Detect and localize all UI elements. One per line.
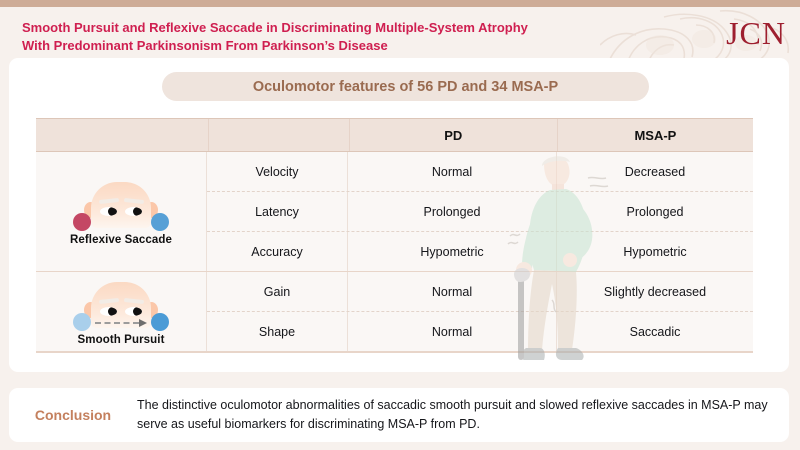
table-group-reflexive-saccade: Reflexive Saccade Velocity Normal Decrea… bbox=[36, 152, 753, 271]
smooth-pursuit-icon-cell: Smooth Pursuit bbox=[36, 272, 207, 351]
pd-value: Normal bbox=[347, 152, 556, 191]
page-title-line2: With Predominant Parkinsonism From Parki… bbox=[22, 37, 622, 55]
pd-value: Hypometric bbox=[347, 232, 556, 271]
top-accent-strip bbox=[0, 0, 800, 7]
section-banner-label: Oculomotor features of 56 PD and 34 MSA-… bbox=[253, 79, 558, 95]
conclusion-card: Conclusion The distinctive oculomotor ab… bbox=[9, 388, 789, 442]
smooth-pursuit-label: Smooth Pursuit bbox=[77, 334, 164, 346]
eyes-smooth-pursuit-icon bbox=[73, 282, 169, 328]
feature-name: Velocity bbox=[207, 152, 347, 191]
pupil-left-icon bbox=[108, 307, 117, 316]
jcn-logo: JCN bbox=[726, 17, 786, 49]
msa-p-value: Hypometric bbox=[556, 232, 753, 271]
table-row: Shape Normal Saccadic bbox=[207, 311, 753, 351]
eye-left-icon bbox=[100, 307, 117, 316]
pd-value: Normal bbox=[347, 272, 556, 311]
eyes-reflexive-saccade-icon bbox=[73, 182, 169, 228]
table-body: Reflexive Saccade Velocity Normal Decrea… bbox=[36, 152, 753, 351]
main-card: Oculomotor features of 56 PD and 34 MSA-… bbox=[9, 58, 789, 372]
oculomotor-features-table: PD MSA-P Reflexiv bbox=[36, 118, 753, 353]
msa-p-value: Saccadic bbox=[556, 312, 753, 351]
section-banner: Oculomotor features of 56 PD and 34 MSA-… bbox=[162, 72, 649, 101]
feature-name: Latency bbox=[207, 192, 347, 231]
target-dot-right bbox=[151, 213, 169, 231]
pupil-right-icon bbox=[133, 307, 142, 316]
eye-left-icon bbox=[100, 207, 117, 216]
page-header: Smooth Pursuit and Reflexive Saccade in … bbox=[0, 7, 800, 58]
table-row: Latency Prolonged Prolonged bbox=[207, 191, 753, 231]
msa-p-value: Decreased bbox=[556, 152, 753, 191]
table-header-pd: PD bbox=[349, 119, 557, 151]
pd-value: Normal bbox=[347, 312, 556, 351]
table-group-smooth-pursuit: Smooth Pursuit Gain Normal Slightly decr… bbox=[36, 271, 753, 351]
pupil-right-icon bbox=[133, 207, 142, 216]
page-title: Smooth Pursuit and Reflexive Saccade in … bbox=[22, 19, 622, 56]
reflexive-saccade-icon-cell: Reflexive Saccade bbox=[36, 152, 207, 271]
pd-value: Prolonged bbox=[347, 192, 556, 231]
table-bottom-border bbox=[36, 351, 753, 353]
table-row: Gain Normal Slightly decreased bbox=[207, 272, 753, 311]
table-row: Accuracy Hypometric Hypometric bbox=[207, 231, 753, 271]
reflexive-saccade-rows: Velocity Normal Decreased Latency Prolon… bbox=[207, 152, 753, 271]
feature-name: Accuracy bbox=[207, 232, 347, 271]
conclusion-label: Conclusion bbox=[9, 407, 137, 423]
msa-p-value: Slightly decreased bbox=[556, 272, 753, 311]
table-row: Velocity Normal Decreased bbox=[207, 152, 753, 191]
pupil-left-icon bbox=[108, 207, 117, 216]
target-dot-left bbox=[73, 313, 91, 331]
table-header-icon-col bbox=[36, 119, 208, 151]
table-header-feature-col bbox=[208, 119, 348, 151]
pursuit-arrow-icon bbox=[95, 320, 149, 326]
eye-right-icon bbox=[125, 207, 142, 216]
feature-name: Shape bbox=[207, 312, 347, 351]
conclusion-text: The distinctive oculomotor abnormalities… bbox=[137, 396, 789, 434]
smooth-pursuit-rows: Gain Normal Slightly decreased Shape Nor… bbox=[207, 272, 753, 351]
table-header-msa-p: MSA-P bbox=[557, 119, 753, 151]
arrow-line bbox=[95, 322, 139, 324]
feature-name: Gain bbox=[207, 272, 347, 311]
target-dot-left bbox=[73, 213, 91, 231]
table-header-row: PD MSA-P bbox=[36, 118, 753, 152]
target-dot-right bbox=[151, 313, 169, 331]
page-title-line1: Smooth Pursuit and Reflexive Saccade in … bbox=[22, 19, 622, 37]
msa-p-value: Prolonged bbox=[556, 192, 753, 231]
reflexive-saccade-label: Reflexive Saccade bbox=[70, 234, 172, 246]
arrow-head bbox=[139, 319, 147, 327]
face-head-icon bbox=[91, 182, 151, 228]
eye-right-icon bbox=[125, 307, 142, 316]
